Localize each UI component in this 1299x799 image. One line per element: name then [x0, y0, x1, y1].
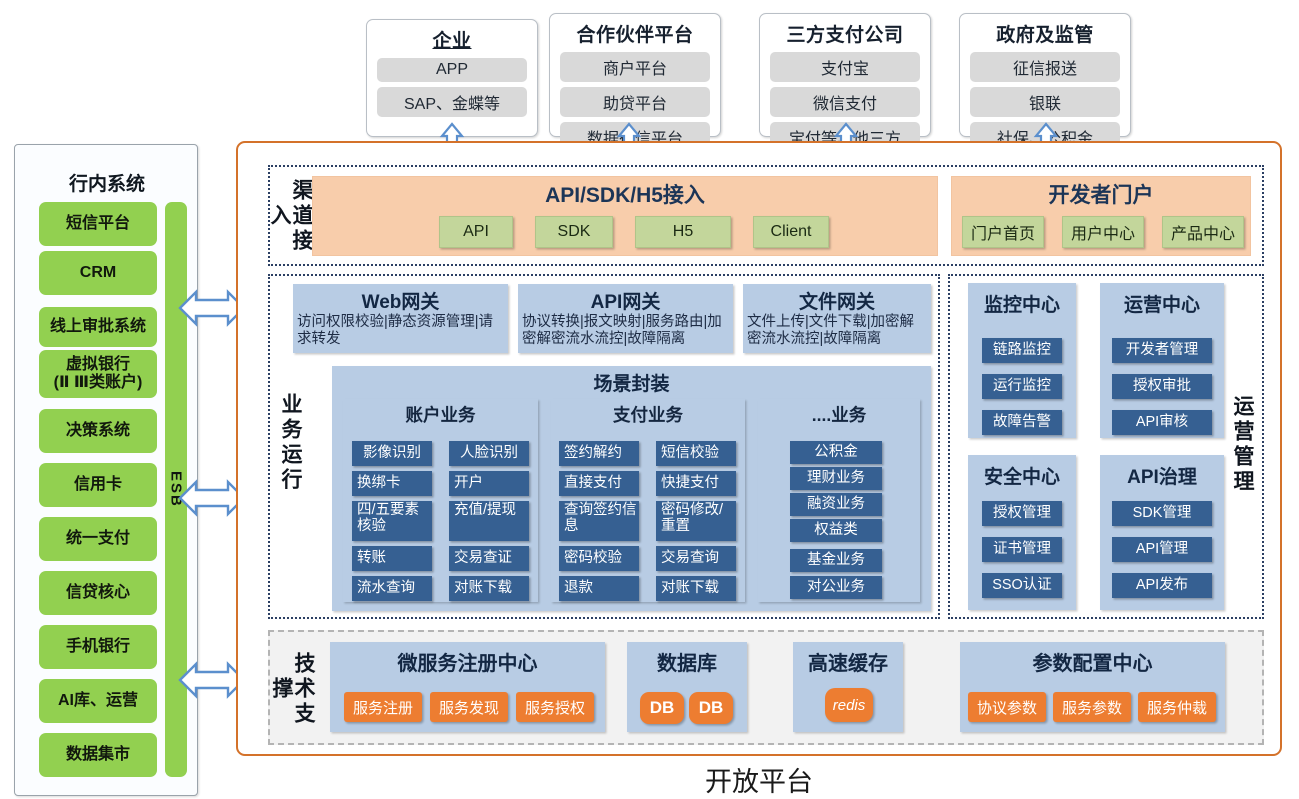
- operations-item[interactable]: 故障告警: [982, 410, 1062, 435]
- scenario-item[interactable]: 开户: [449, 471, 529, 496]
- operations-panel-title: 监控中心: [968, 283, 1076, 317]
- scenario-item[interactable]: 人脸识别: [449, 441, 529, 466]
- tech-panel-title: 数据库: [627, 642, 747, 676]
- scenario-item[interactable]: 短信校验: [656, 441, 736, 466]
- tech-chip[interactable]: 服务注册: [344, 692, 422, 722]
- operations-panel-title: 安全中心: [968, 455, 1076, 489]
- scenario-item[interactable]: 融资业务: [790, 493, 882, 516]
- business-run-vertical-label: 业务运行: [276, 388, 304, 498]
- scenario-item[interactable]: 签约解约: [559, 441, 639, 466]
- external-system-title: 政府及监管: [970, 20, 1120, 47]
- external-system-item: SAP、金蝶等: [377, 87, 527, 117]
- operations-item[interactable]: 运行监控: [982, 374, 1062, 399]
- portal-chip-product-center[interactable]: 产品中心: [1162, 216, 1244, 248]
- tech-chip[interactable]: 服务参数: [1053, 692, 1131, 722]
- gateway-desc: 访问权限校验|静态资源管理|请求转发: [293, 314, 508, 348]
- scenario-group-title: 账户业务: [343, 399, 538, 427]
- channel-access-vertical-label: 渠道接入: [276, 171, 304, 261]
- developer-portal-box: 开发者门户 门户首页 用户中心 产品中心: [951, 176, 1251, 256]
- scenario-item[interactable]: 理财业务: [790, 467, 882, 490]
- in-bank-item-6[interactable]: 统一支付: [39, 517, 157, 561]
- scenario-item[interactable]: 密码修改/重置: [656, 501, 736, 541]
- scenario-item[interactable]: 流水查询: [352, 576, 432, 601]
- tech-chip[interactable]: 服务授权: [516, 692, 594, 722]
- scenario-group-title: ....业务: [758, 399, 920, 427]
- in-bank-item-2[interactable]: 线上审批系统: [39, 307, 157, 347]
- operations-item[interactable]: 开发者管理: [1112, 338, 1212, 363]
- scenario-item[interactable]: 权益类: [790, 519, 882, 542]
- tech-chip-db[interactable]: DB: [640, 692, 684, 724]
- channel-chip-h5[interactable]: H5: [635, 216, 731, 248]
- external-system-item: 征信报送: [970, 52, 1120, 82]
- in-bank-item-10[interactable]: 数据集市: [39, 733, 157, 777]
- operations-panel-title: 运营中心: [1100, 283, 1224, 317]
- scenario-item[interactable]: 密码校验: [559, 546, 639, 571]
- in-bank-item-0[interactable]: 短信平台: [39, 202, 157, 246]
- scenario-item[interactable]: 四/五要素核验: [352, 501, 432, 541]
- scenario-item[interactable]: 对账下载: [656, 576, 736, 601]
- external-system-title: 三方支付公司: [770, 20, 920, 47]
- scenario-item[interactable]: 基金业务: [790, 549, 882, 572]
- in-bank-item-8[interactable]: 手机银行: [39, 625, 157, 669]
- operations-item[interactable]: 链路监控: [982, 338, 1062, 363]
- scenario-item[interactable]: 直接支付: [559, 471, 639, 496]
- tech-chip[interactable]: 服务发现: [430, 692, 508, 722]
- scenario-item[interactable]: 对公业务: [790, 576, 882, 599]
- in-bank-systems-panel: 行内系统 短信平台 CRM 线上审批系统 虚拟银行 (Ⅱ Ⅲ类账户) 决策系统 …: [14, 144, 198, 796]
- operations-item[interactable]: API发布: [1112, 573, 1212, 598]
- gateway-title: API网关: [518, 287, 733, 314]
- scenario-group-title: 支付业务: [551, 399, 745, 427]
- tech-chip[interactable]: 协议参数: [968, 692, 1046, 722]
- tech-chip-redis[interactable]: redis: [825, 688, 873, 722]
- in-bank-title: 行内系统: [15, 169, 199, 196]
- gateway-title: Web网关: [293, 287, 508, 314]
- gateway-card-api: API网关 协议转换|报文映射|服务路由|加密解密流水流控|故障隔离: [518, 284, 733, 353]
- tech-panel-title: 参数配置中心: [960, 642, 1225, 676]
- portal-chip-user-center[interactable]: 用户中心: [1062, 216, 1144, 248]
- channel-chip-sdk[interactable]: SDK: [535, 216, 613, 248]
- external-system-box-0: 企业 APP SAP、金蝶等: [366, 19, 538, 137]
- gateway-desc: 协议转换|报文映射|服务路由|加密解密流水流控|故障隔离: [518, 314, 733, 348]
- external-system-item: 助贷平台: [560, 87, 710, 117]
- operations-item[interactable]: API管理: [1112, 537, 1212, 562]
- external-system-item: 支付宝: [770, 52, 920, 82]
- in-bank-item-7[interactable]: 信贷核心: [39, 571, 157, 615]
- portal-chip-home[interactable]: 门户首页: [962, 216, 1044, 248]
- in-bank-item-5[interactable]: 信用卡: [39, 463, 157, 507]
- scenario-item[interactable]: 对账下载: [449, 576, 529, 601]
- external-system-box-1: 合作伙伴平台 商户平台 助贷平台 数据征信平台: [549, 13, 721, 137]
- scenario-item[interactable]: 退款: [559, 576, 639, 601]
- api-sdk-h5-title: API/SDK/H5接入: [313, 179, 937, 209]
- external-system-box-2: 三方支付公司 支付宝 微信支付 宝付等其他三方: [759, 13, 931, 137]
- gateway-card-web: Web网关 访问权限校验|静态资源管理|请求转发: [293, 284, 508, 353]
- external-system-item: 银联: [970, 87, 1120, 117]
- in-bank-item-9[interactable]: AI库、运营: [39, 679, 157, 723]
- external-system-item: 微信支付: [770, 87, 920, 117]
- api-sdk-h5-access-box: API/SDK/H5接入 API SDK H5 Client: [312, 176, 938, 256]
- operations-item[interactable]: API审核: [1112, 410, 1212, 435]
- scenario-title: 场景封装: [332, 366, 931, 396]
- gateway-title: 文件网关: [743, 287, 931, 314]
- operations-vertical-label: 运营管理: [1228, 390, 1256, 500]
- external-system-item: 商户平台: [560, 52, 710, 82]
- operations-item[interactable]: 授权审批: [1112, 374, 1212, 399]
- operations-item[interactable]: SSO认证: [982, 573, 1062, 598]
- operations-item[interactable]: 授权管理: [982, 501, 1062, 526]
- scenario-item[interactable]: 交易查询: [656, 546, 736, 571]
- in-bank-item-1[interactable]: CRM: [39, 251, 157, 295]
- operations-item[interactable]: 证书管理: [982, 537, 1062, 562]
- external-system-title: 合作伙伴平台: [560, 20, 710, 47]
- gateway-desc: 文件上传|文件下载|加密解密流水流控|故障隔离: [743, 314, 931, 348]
- scenario-item[interactable]: 换绑卡: [352, 471, 432, 496]
- scenario-item[interactable]: 公积金: [790, 441, 882, 464]
- in-bank-item-4[interactable]: 决策系统: [39, 409, 157, 453]
- external-system-box-3: 政府及监管 征信报送 银联 社保、公积金: [959, 13, 1131, 137]
- developer-portal-title: 开发者门户: [952, 179, 1250, 209]
- external-system-title: 企业: [377, 26, 527, 53]
- architecture-diagram: 企业 APP SAP、金蝶等 合作伙伴平台 商户平台 助贷平台 数据征信平台 三…: [0, 0, 1299, 799]
- channel-chip-client[interactable]: Client: [753, 216, 829, 248]
- channel-chip-api[interactable]: API: [439, 216, 513, 248]
- operations-item[interactable]: SDK管理: [1112, 501, 1212, 526]
- in-bank-item-3[interactable]: 虚拟银行 (Ⅱ Ⅲ类账户): [39, 350, 157, 398]
- scenario-item[interactable]: 影像识别: [352, 441, 432, 466]
- scenario-item[interactable]: 快捷支付: [656, 471, 736, 496]
- tech-support-vertical-label: 技术支撑: [278, 643, 306, 735]
- scenario-item[interactable]: 查询签约信息: [559, 501, 639, 541]
- gateway-card-file: 文件网关 文件上传|文件下载|加密解密流水流控|故障隔离: [743, 284, 931, 353]
- scenario-item[interactable]: 充值/提现: [449, 501, 529, 541]
- tech-panel-title: 高速缓存: [793, 642, 903, 676]
- tech-panel-title: 微服务注册中心: [330, 642, 605, 676]
- tech-chip[interactable]: 服务仲裁: [1138, 692, 1216, 722]
- external-system-item: APP: [377, 58, 527, 82]
- platform-bottom-title: 开放平台: [236, 760, 1282, 799]
- scenario-item[interactable]: 交易查证: [449, 546, 529, 571]
- operations-panel-title: API治理: [1100, 455, 1224, 489]
- scenario-item[interactable]: 转账: [352, 546, 432, 571]
- tech-chip-db[interactable]: DB: [689, 692, 733, 724]
